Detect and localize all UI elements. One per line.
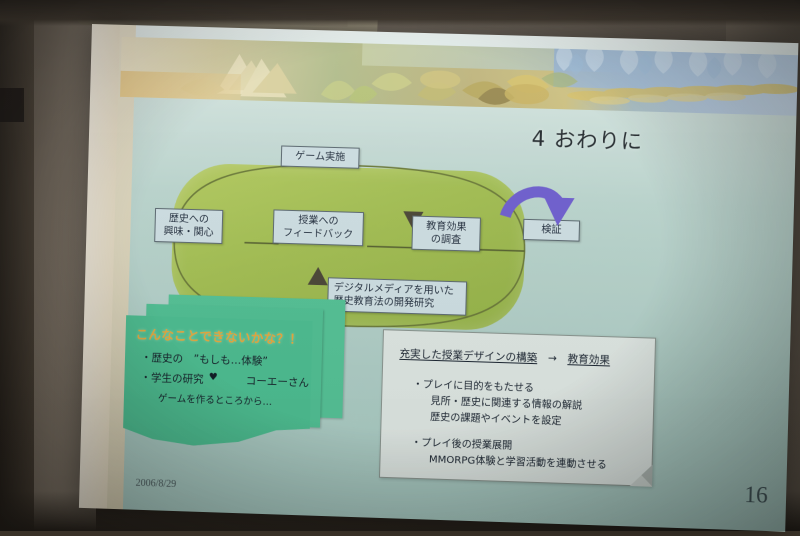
top-shadow xyxy=(0,0,800,26)
page-title: 4 おわりに xyxy=(531,122,643,155)
slide-page-number: 16 xyxy=(744,482,768,509)
diagram-node-effect: 教育効果 の調査 xyxy=(411,216,481,252)
slide-date: 2006/8/29 xyxy=(135,478,176,490)
projection-screen: 4 おわりに 歴史への 興味・関心 ゲーム実施 授業への フィードバック 教育効… xyxy=(79,24,798,532)
diagram-node-game: ゲーム実施 xyxy=(281,145,360,168)
summary-line-4: ・プレイ後の授業展開 xyxy=(411,434,512,452)
slide: 4 おわりに 歴史への 興味・関心 ゲーム実施 授業への フィードバック 教育効… xyxy=(79,24,798,532)
heart-icon: ♥ xyxy=(209,372,218,383)
summary-panel-heading: 充実した授業デザインの構築 → 教育効果 xyxy=(399,346,610,368)
diagram-node-interest: 歴史への 興味・関心 xyxy=(154,208,223,244)
panel-corner-fold xyxy=(630,464,653,487)
left-wall-shadow xyxy=(0,0,34,531)
summary-heading-arrow: → xyxy=(537,352,568,365)
purple-curved-arrow xyxy=(499,174,582,237)
summary-line-5: MMORPG体験と学習活動を連動させる xyxy=(429,450,607,471)
sticky-note-stack: こんなことできないかな？！ ・歴史の ”もしも…体験” ・学生の研究 コーエーさ… xyxy=(120,293,355,461)
summary-line-3: 歴史の課題やイベントを設定 xyxy=(430,408,562,427)
summary-panel: 充実した授業デザインの構築 → 教育効果 ・プレイに目的をもたせる 見所・歴史に… xyxy=(379,329,656,487)
wall-vent xyxy=(0,88,24,122)
summary-heading-left: 充実した授業デザインの構築 xyxy=(399,348,537,364)
summary-heading-right: 教育効果 xyxy=(567,353,610,366)
diagram-node-feedback: 授業への フィードバック xyxy=(273,209,364,246)
